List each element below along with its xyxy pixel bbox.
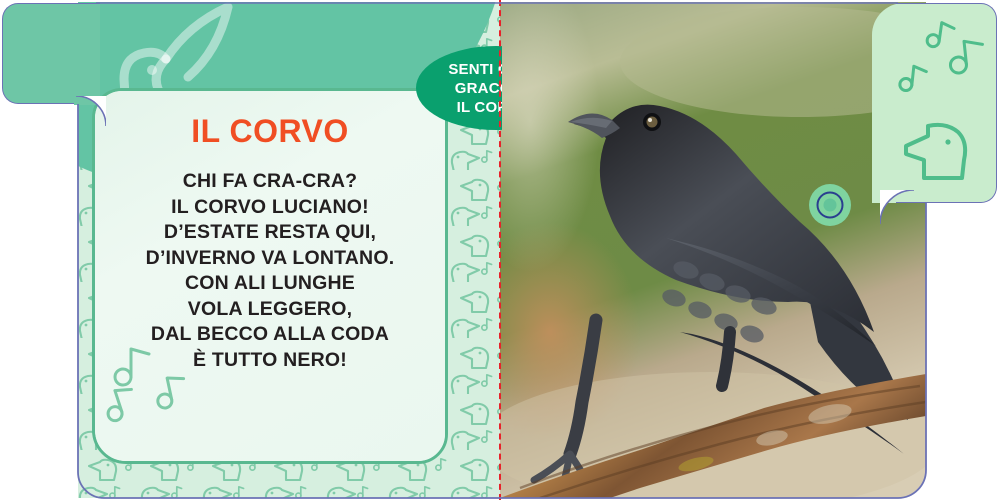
music-note-icon (102, 386, 139, 423)
music-note-icon (926, 21, 954, 49)
right-page-tab[interactable] (896, 3, 997, 203)
music-note-icon (115, 349, 149, 385)
left-tab-notch (76, 96, 106, 126)
music-note-icon (948, 39, 985, 73)
left-text-page: IL CORVO CHI FA CRA-CRA? IL CORVO LUCIAN… (78, 2, 502, 498)
bubble-line: SENTI COME (448, 60, 502, 79)
page-title: IL CORVO (95, 113, 445, 150)
poem-line: IL CORVO LUCIANO! (95, 195, 445, 221)
bubble-line: GRACCHIA (455, 79, 502, 98)
left-tab-joint (74, 3, 100, 105)
sound-target-button[interactable] (809, 184, 851, 226)
poem-line: CON ALI LUNGHE (95, 271, 445, 297)
speech-bubble: SENTI COME GRACCHIA IL CORVO! (416, 46, 502, 130)
book-spread: IL CORVO CHI FA CRA-CRA? IL CORVO LUCIAN… (0, 0, 1000, 500)
speech-bubble-text: SENTI COME GRACCHIA IL CORVO! (416, 46, 502, 130)
poem-line: D’ESTATE RESTA QUI, (95, 220, 445, 246)
raven-photo (500, 2, 926, 498)
music-note-icon (153, 375, 188, 410)
poem-line: CHI FA CRA-CRA? (95, 169, 445, 195)
music-notes-decoration (101, 341, 231, 451)
fold-line (499, 0, 501, 500)
bubble-line: IL CORVO! (457, 98, 502, 117)
poem-line: D’INVERNO VA LONTANO. (95, 246, 445, 272)
poem-line: VOLA LEGGERO, (95, 297, 445, 323)
bird-head-outline-icon (906, 125, 965, 178)
music-note-icon (899, 65, 926, 92)
poem-panel: IL CORVO CHI FA CRA-CRA? IL CORVO LUCIAN… (92, 88, 448, 464)
right-tab-notch (880, 190, 914, 224)
